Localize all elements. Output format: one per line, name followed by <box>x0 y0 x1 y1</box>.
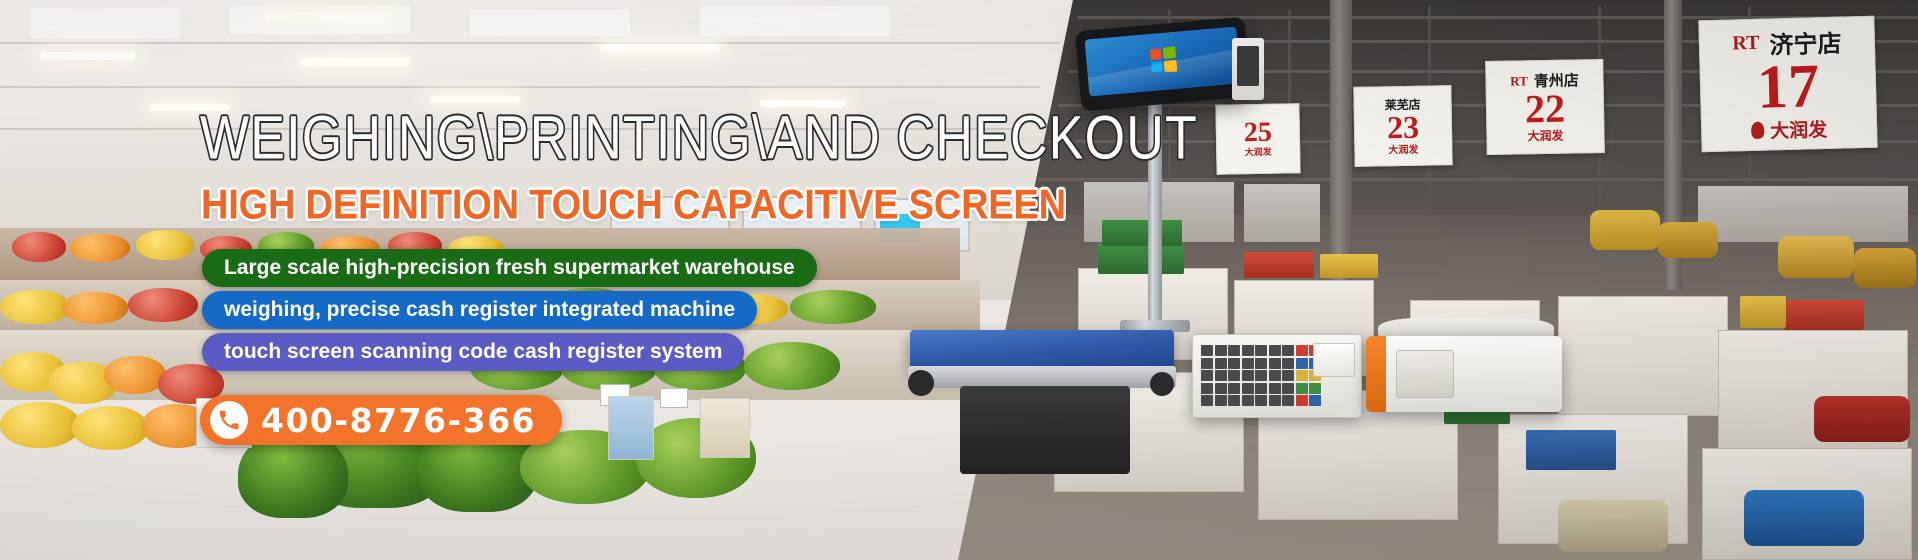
phone-icon <box>210 401 248 439</box>
feature-pill-cashregister: weighing, precise cash register integrat… <box>202 291 757 329</box>
copy-block: WEIGHING\PRINTING\AND CHECKOUT HIGH DEFI… <box>0 0 1000 560</box>
sign-brand: 大润发 <box>1770 115 1828 143</box>
phone-number: 400-8776-366 <box>261 401 536 440</box>
promo-banner: RT 济宁店 17 大润发 RT 青州店 22 大润发 莱芜店 23 大润发 2… <box>0 0 1918 560</box>
sign-brand: 大润发 <box>1388 141 1418 157</box>
feature-pill-warehouse: Large scale high-precision fresh superma… <box>202 249 817 287</box>
bench-scale-accent <box>1366 336 1386 412</box>
sign-number: 17 <box>1756 59 1819 116</box>
store-sign-23: 莱芜店 23 大润发 <box>1353 85 1452 167</box>
bench-scale-printer-slot <box>1396 350 1454 398</box>
sign-number: 25 <box>1244 120 1272 146</box>
feature-pill-label: touch screen scanning code cash register… <box>224 340 722 364</box>
pos-screen <box>1085 26 1241 96</box>
pos-keyboard-display <box>1313 343 1355 377</box>
sign-number: 23 <box>1387 112 1419 141</box>
pos-monitor <box>1075 17 1251 112</box>
store-sign-22: RT 青州店 22 大润发 <box>1485 59 1605 155</box>
sign-logo-icon <box>1751 122 1764 139</box>
feature-pill-label: Large scale high-precision fresh superma… <box>224 256 795 280</box>
pos-keyboard-terminal[interactable] <box>1192 334 1362 418</box>
feature-pill-touchscreen: touch screen scanning code cash register… <box>202 333 744 371</box>
store-sign-25: 25 大润发 <box>1215 103 1300 174</box>
pos-printer <box>1232 38 1264 100</box>
feature-pill-label: weighing, precise cash register integrat… <box>224 298 735 322</box>
sign-number: 22 <box>1525 91 1566 128</box>
pos-keypad[interactable] <box>1201 345 1321 406</box>
subheadline: HIGH DEFINITION TOUCH CAPACITIVE SCREEN <box>201 182 1066 229</box>
phone-cta-button[interactable]: 400-8776-366 <box>200 395 562 445</box>
sign-brand: 大润发 <box>1527 127 1563 145</box>
headline: WEIGHING\PRINTING\AND CHECKOUT <box>200 103 1198 174</box>
sign-rt-label: RT <box>1732 32 1760 56</box>
sign-brand: 大润发 <box>1245 145 1272 158</box>
store-sign-17: RT 济宁店 17 大润发 <box>1698 16 1877 153</box>
